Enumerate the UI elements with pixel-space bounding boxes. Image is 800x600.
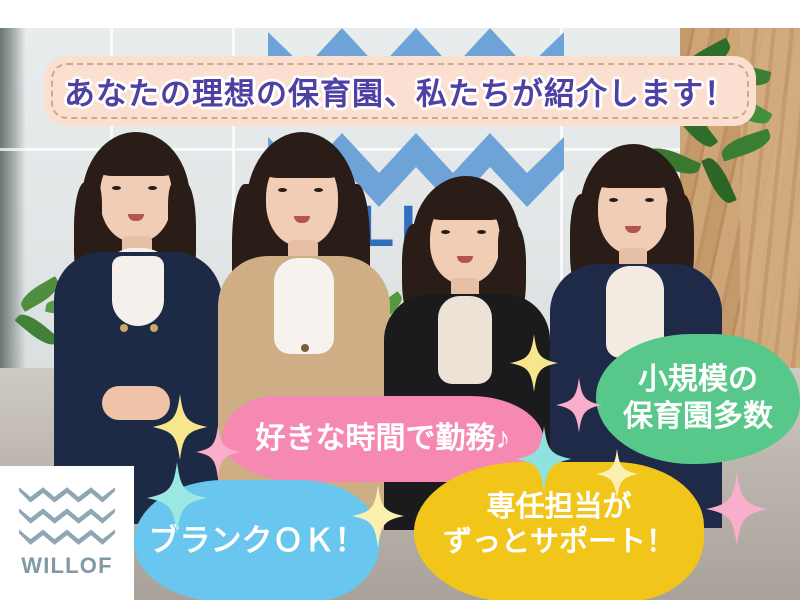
feature-bubble-pink-text: 好きな時間で勤務♪ [256, 421, 511, 458]
headline-text: あなたの理想の保育園、私たちが紹介します！ [44, 69, 756, 114]
feature-bubble-green-text: 小規模の 保育園多数 [623, 362, 773, 435]
headline-banner: あなたの理想の保育園、私たちが紹介します！ [44, 56, 756, 126]
feature-bubble-yellow-text: 専任担当が ずっとサポート！ [443, 490, 675, 561]
willof-wordmark: WILLOF [21, 553, 113, 579]
sparkle-yellow-icon [510, 334, 558, 392]
willof-logo: WILLOF [0, 466, 134, 600]
sparkle-pink-icon [706, 472, 768, 546]
sparkle-cyan-icon [146, 462, 208, 534]
sparkle-cyan-icon [516, 426, 572, 492]
sparkle-yellow-icon [596, 448, 638, 500]
feature-bubble-green: 小規模の 保育園多数 [596, 334, 800, 464]
wall-shadow [0, 28, 26, 368]
sparkle-yellow-icon [352, 484, 404, 548]
zigzag-wave-mark-icon [19, 487, 115, 549]
banner-canvas: WILL [0, 0, 800, 600]
